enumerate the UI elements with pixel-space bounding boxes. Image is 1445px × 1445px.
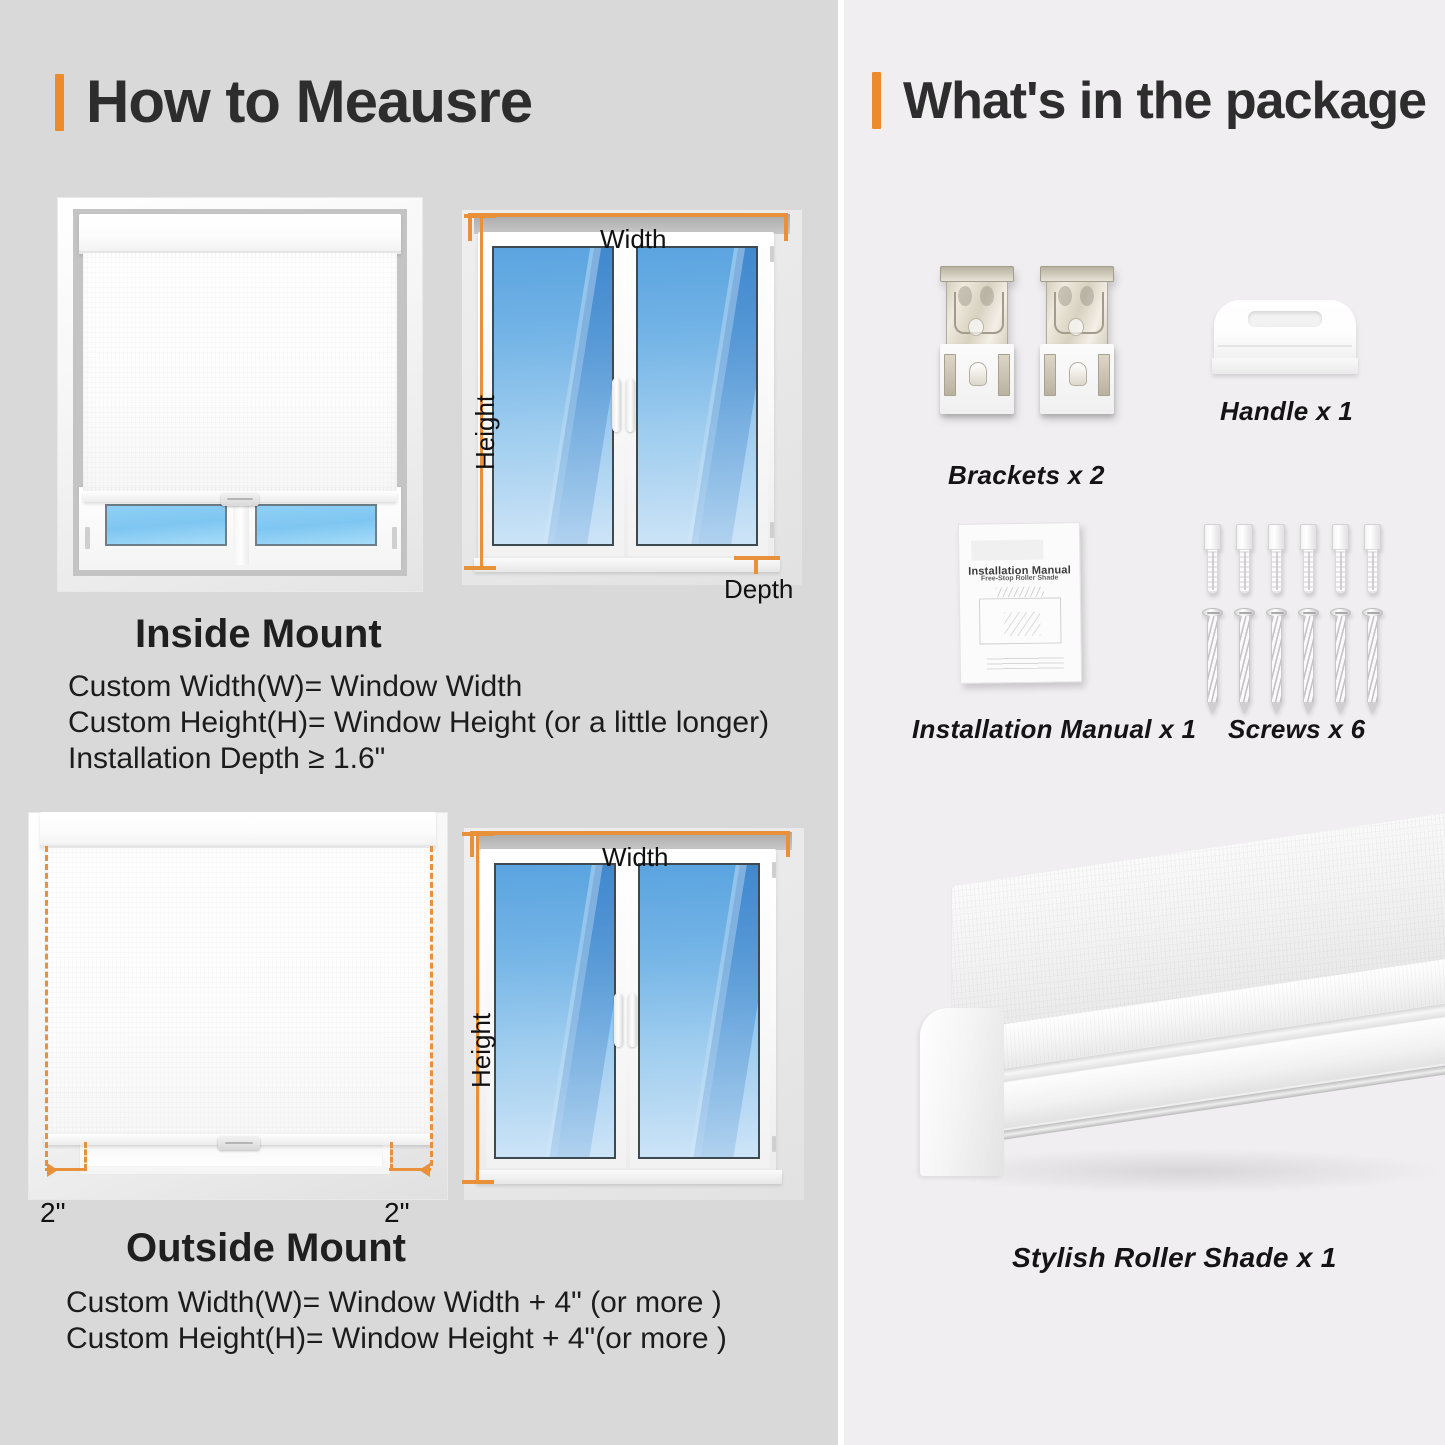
outside-mount-shade-illustration <box>28 812 448 1200</box>
screw-4-icon <box>1298 608 1320 714</box>
package-title: What's in the package <box>903 75 1426 127</box>
height-dim-cap-top-2 <box>462 832 494 836</box>
package-contents-panel: What's in the package Brackets x 2 <box>844 0 1445 1445</box>
handle-icon <box>1200 300 1370 390</box>
depth-dim-label: Depth <box>724 574 793 605</box>
accent-bar-icon <box>55 74 64 131</box>
height-dim-label: Height <box>470 395 501 470</box>
anchor-1-icon <box>1204 524 1222 596</box>
height-dim-line-2 <box>476 836 479 1184</box>
width-dim-label-2: Width <box>602 842 668 873</box>
manual-cover-figure <box>979 598 1061 645</box>
inside-mount-line-3: Installation Depth ≥ 1.6" <box>68 742 385 776</box>
overhang-label-left: 2" <box>40 1197 66 1229</box>
how-to-measure-title: How to Meausre <box>86 72 532 132</box>
handle-skirt <box>1212 358 1358 374</box>
handle-label: Handle x 1 <box>1220 396 1353 427</box>
overhang-arrow-right <box>419 1163 430 1177</box>
screw-6-icon <box>1362 608 1384 714</box>
window-sill-2 <box>476 1170 782 1184</box>
roller-shade-label: Stylish Roller Shade x 1 <box>1012 1242 1337 1274</box>
window-handles-2 <box>614 993 644 1047</box>
manual-cover-subtitle: Free-Stop Roller Shade <box>960 574 1080 583</box>
manual-cover-art <box>971 539 1043 561</box>
inside-mount-shade-illustration <box>57 197 423 592</box>
outside-mount-title: Outside Mount <box>126 1226 406 1271</box>
how-to-measure-heading: How to Meausre <box>55 72 532 132</box>
hinge-left <box>85 527 90 549</box>
window-frame <box>478 232 774 562</box>
manual-label: Installation Manual x 1 <box>912 714 1196 745</box>
hinge-top-right <box>770 246 774 262</box>
anchor-2-icon <box>1236 524 1254 596</box>
overhang-guide-left <box>45 846 48 1166</box>
anchor-6-icon <box>1364 524 1382 596</box>
screw-2-icon <box>1234 608 1256 714</box>
height-dim-cap-bottom-2 <box>462 1180 494 1184</box>
outside-mount-window-diagram: Width Height <box>450 820 820 1220</box>
width-dim-cap-right-2 <box>786 831 790 857</box>
inside-mount-line-1: Custom Width(W)= Window Width <box>68 670 522 704</box>
manual-icon: Installation Manual Free-Stop Roller Sha… <box>958 522 1082 684</box>
screw-1-icon <box>1202 608 1224 714</box>
roller-shade-endcap <box>920 1008 1004 1176</box>
overhang-guide-left-inner <box>84 1142 87 1170</box>
anchor-5-icon <box>1332 524 1350 596</box>
shade-pull-tab <box>221 493 259 506</box>
screw-5-icon <box>1330 608 1352 714</box>
screw-icon <box>1200 524 1400 699</box>
overhang-guide-right <box>430 846 433 1166</box>
handle-body <box>1214 300 1356 362</box>
depth-dim-tick <box>754 556 758 574</box>
glass-pane-left-2 <box>494 863 616 1159</box>
how-to-measure-panel: How to Meausre <box>0 0 838 1445</box>
glass-right <box>255 504 377 546</box>
shade-fabric <box>83 253 397 493</box>
height-dim-cap-bottom <box>464 566 496 570</box>
shade-fabric-outside <box>44 848 432 1138</box>
screw-3-icon <box>1266 608 1288 714</box>
overhang-label-right: 2" <box>384 1197 410 1229</box>
overhang-arrow-left <box>47 1163 58 1177</box>
outside-mount-line-1: Custom Width(W)= Window Width + 4" (or m… <box>66 1286 722 1320</box>
width-dim-line <box>470 213 788 217</box>
bracket-left-icon <box>940 270 1014 420</box>
shade-pull-tab-outside <box>218 1136 260 1150</box>
hinge-top-right-2 <box>772 862 776 878</box>
width-dim-cap-right <box>784 213 788 241</box>
bracket-icon <box>940 270 1130 430</box>
anchor-4-icon <box>1300 524 1318 596</box>
overhang-guide-right-inner <box>390 1142 393 1170</box>
accent-bar-icon-2 <box>872 72 881 129</box>
glass-pane-right-2 <box>638 863 760 1159</box>
outside-mount-line-2: Custom Height(H)= Window Height + 4"(or … <box>66 1322 727 1356</box>
height-dim-cap-top <box>464 214 496 218</box>
inside-mount-title: Inside Mount <box>135 612 382 657</box>
package-heading: What's in the package <box>872 72 1426 129</box>
shade-valance <box>79 214 401 254</box>
inside-mount-line-2: Custom Height(H)= Window Height (or a li… <box>68 706 769 740</box>
manual-cover-footer-lines <box>987 655 1064 670</box>
hinge-bottom-right <box>770 522 774 538</box>
height-dim-label-2: Height <box>466 1013 497 1088</box>
hinge-bottom-right-2 <box>772 1136 776 1152</box>
anchor-3-icon <box>1268 524 1286 596</box>
manual-cover-scribble <box>996 587 1044 598</box>
width-dim-label: Width <box>600 224 666 255</box>
brackets-label: Brackets x 2 <box>948 460 1105 491</box>
roller-shade-icon <box>904 880 1445 1210</box>
bracket-right-icon <box>1040 270 1114 420</box>
window-frame-2 <box>480 849 776 1174</box>
window-sill <box>474 558 780 572</box>
inside-mount-window-diagram: Width Height Depth <box>448 200 818 610</box>
window-handles <box>612 378 642 432</box>
glass-left <box>105 504 227 546</box>
hinge-right <box>392 527 397 549</box>
infographic-page: How to Meausre <box>0 0 1445 1445</box>
glass-pane-left <box>492 246 614 546</box>
screws-label: Screws x 6 <box>1228 714 1365 745</box>
shade-valance-outside <box>40 812 436 848</box>
glass-pane-right <box>636 246 758 546</box>
width-dim-line-2 <box>472 831 790 835</box>
